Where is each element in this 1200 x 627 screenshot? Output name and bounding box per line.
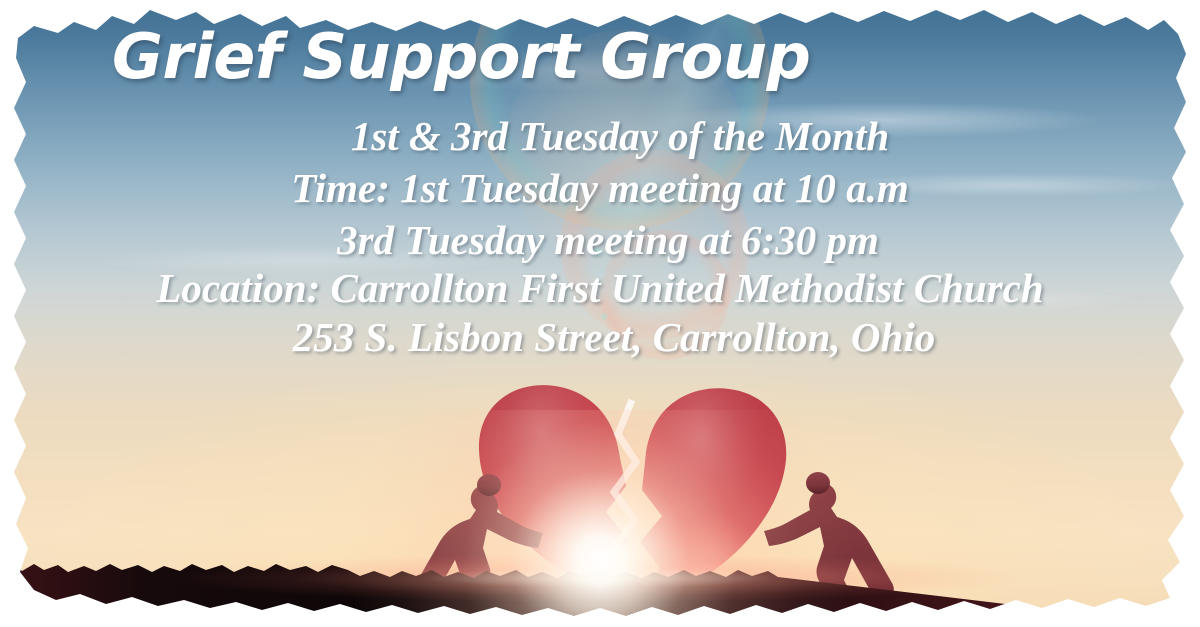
- location-address-line: 253 S. Lisbon Street, Carrollton, Ohio: [0, 313, 1200, 361]
- third-tuesday-time-line: 3rd Tuesday meeting at 6:30 pm: [0, 216, 1200, 264]
- page-title: Grief Support Group: [112, 26, 810, 88]
- grief-support-group-poster: Grief Support Group 1st & 3rd Tuesday of…: [0, 0, 1200, 627]
- first-tuesday-time-line: Time: 1st Tuesday meeting at 10 a.m: [0, 164, 1200, 212]
- schedule-frequency-line: 1st & 3rd Tuesday of the Month: [0, 112, 1200, 160]
- location-venue-line: Location: Carrollton First United Method…: [0, 264, 1200, 312]
- ground-grass-silhouette: [0, 556, 1200, 627]
